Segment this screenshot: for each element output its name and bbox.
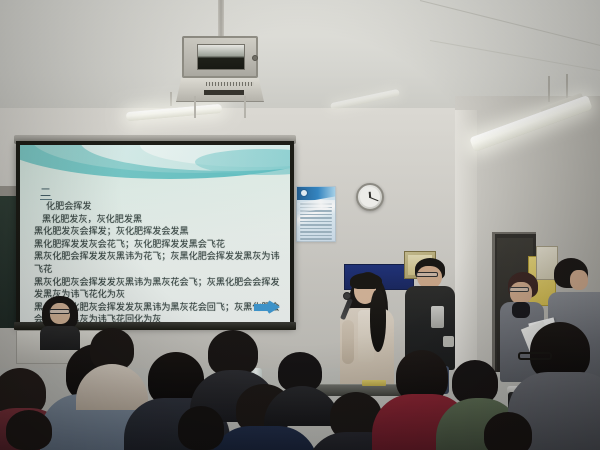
face	[510, 282, 532, 304]
next-slide-arrow-icon[interactable]	[254, 299, 280, 315]
projector-rod-left	[194, 96, 196, 118]
slide-line: 黑化肥发灰，灰化肥发黑	[34, 214, 284, 227]
slide-heading: 二	[40, 187, 52, 200]
light-hanger-2	[566, 74, 568, 100]
slide-line: 化肥会挥发	[34, 201, 284, 214]
head	[178, 406, 224, 450]
glasses-icon	[416, 272, 438, 277]
slide-line: 黑化肥挥发发灰会花飞；灰化肥挥发发黑会飞花	[34, 239, 284, 252]
wall-clock	[356, 183, 384, 211]
jacket-patch-2	[443, 336, 454, 347]
audience-member	[0, 410, 64, 450]
slide-line: 黑灰化肥会挥发发灰黑讳为花飞；灰黑化肥会挥发发黑灰为讳飞花	[34, 251, 284, 276]
clock-center-pin	[369, 196, 371, 198]
slide-line: 黑化肥发灰会挥发；灰化肥挥发会发黑	[34, 226, 284, 239]
projector-vent	[206, 82, 254, 86]
glasses-icon	[49, 309, 70, 314]
jacket-patch	[431, 306, 444, 328]
light-hanger-3	[170, 92, 172, 106]
clock-face	[360, 187, 380, 207]
wall-poster	[296, 186, 336, 242]
clock-minute-hand	[370, 197, 379, 201]
scarf	[512, 302, 530, 318]
microphone-head-icon	[343, 292, 351, 300]
projector-window	[197, 44, 245, 70]
audience-member	[470, 412, 548, 450]
head	[6, 410, 52, 450]
face	[570, 270, 588, 290]
glasses-icon	[509, 287, 529, 292]
slide-wave-decoration	[20, 145, 290, 191]
projector-lens-icon	[252, 55, 258, 61]
hair-front	[350, 273, 382, 289]
light-hanger	[548, 76, 550, 102]
glasses-icon	[518, 352, 552, 360]
audience-member	[170, 406, 234, 450]
projector-slot	[204, 90, 244, 95]
projector-rod-right	[244, 96, 246, 118]
poster-badge-icon	[300, 189, 308, 197]
projector-mount-pole	[218, 0, 224, 40]
arm	[342, 320, 354, 364]
ponytail	[370, 290, 386, 352]
classroom-photo: 二 化肥会挥发 黑化肥发灰，灰化肥发黑 黑化肥发灰会挥发；灰化肥挥发会发黑 黑化…	[0, 0, 600, 450]
head	[484, 412, 532, 450]
ceiling-projector-cage	[182, 36, 258, 78]
